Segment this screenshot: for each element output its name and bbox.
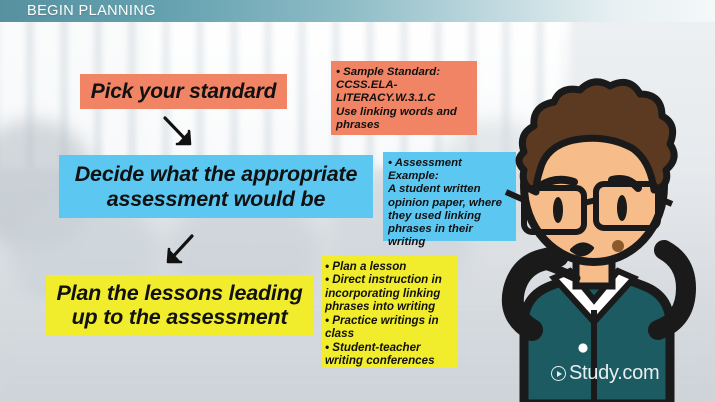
character-mole [612, 240, 624, 252]
character-eye-left [553, 197, 563, 223]
step-box-plan-lessons: Plan the lessons leading up to the asses… [46, 275, 313, 335]
character-arm-right [658, 250, 686, 330]
page-title: BEGIN PLANNING [27, 3, 156, 19]
slide-canvas: BEGIN PLANNING Pick your standard Decide… [0, 0, 715, 402]
arrow-assessment-to-lessons-icon [160, 231, 202, 273]
thinking-teacher-illustration [472, 78, 715, 402]
slide-header-bar: BEGIN PLANNING [0, 0, 715, 22]
arrow-standard-to-assessment-icon [160, 113, 202, 155]
note-lesson-plan: • Plan a lesson • Direct instruction in … [322, 256, 457, 368]
character-shirt-button [578, 343, 587, 352]
step-box-decide-assessment: Decide what the appropriate assessment w… [59, 155, 373, 218]
character-eye-right [617, 195, 627, 221]
note-sample-standard: • Sample Standard: CCSS.ELA- LITERACY.W.… [331, 61, 477, 135]
character-mouth [572, 244, 592, 254]
step-box-pick-standard: Pick your standard [80, 74, 287, 109]
